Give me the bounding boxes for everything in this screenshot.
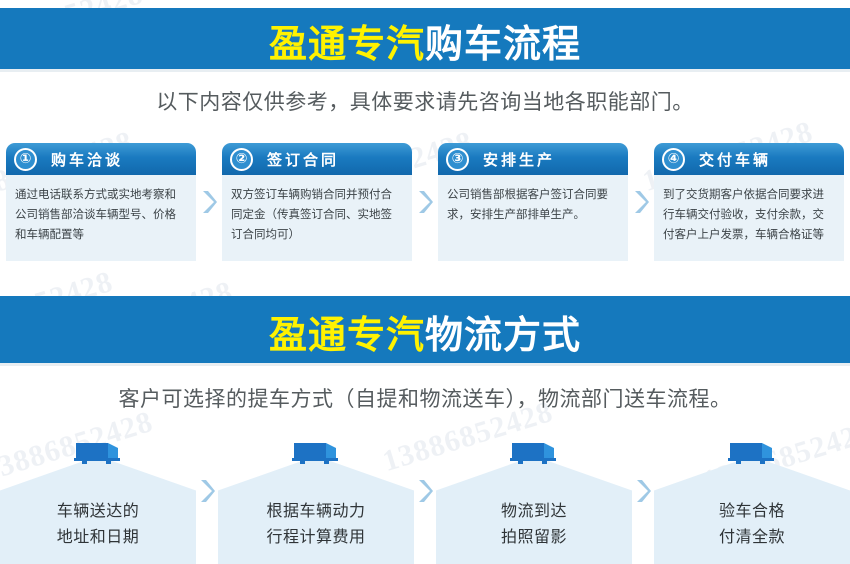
- chevron-right-icon: [417, 478, 434, 504]
- step-card-2[interactable]: ② 签订合同 双方签订车辆购销合同并预付合同定金（传真签订合同、实地签订合同均可…: [222, 143, 412, 261]
- step-arrow-2: [412, 143, 438, 261]
- step-card-3[interactable]: ③ 安排生产 公司销售部根据客户签订合同要求，安排生产部排单生产。: [438, 143, 628, 261]
- step-title-4: 交付车辆: [699, 149, 771, 170]
- chevron-right-icon: [417, 189, 434, 215]
- purchase-steps-row: ① 购车洽谈 通过电话联系方式或实地考察和公司销售部洽谈车辆型号、价格和车辆配置…: [6, 143, 844, 261]
- banner-bottom-suffix: 物流方式: [425, 313, 581, 357]
- step-body-4: 到了交货期客户依据合同要求进行车辆交付验收，支付余款，交付客户上户发票，车辆合格…: [654, 175, 844, 261]
- brand-name-bottom: 盈通专汽: [269, 313, 425, 357]
- logistics-text-4: 验车合格 付清全款: [654, 498, 850, 550]
- truck-icon: [72, 440, 124, 468]
- step-header-1: ① 购车洽谈: [6, 143, 196, 175]
- subtitle-logistics: 客户可选择的提车方式（自提和物流送车），物流部门送车流程。: [0, 383, 850, 413]
- step-arrow-1: [196, 143, 222, 261]
- logistics-line1-3: 物流到达: [436, 498, 632, 524]
- banner-purchase-process: 盈通专汽购车流程: [0, 8, 850, 72]
- step-number-badge-2: ②: [230, 148, 253, 171]
- step-arrow-3: [628, 143, 654, 261]
- logistics-card-3[interactable]: 物流到达 拍照留影: [436, 440, 632, 564]
- logistics-line1-1: 车辆送达的: [0, 498, 196, 524]
- step-header-3: ③ 安排生产: [438, 143, 628, 175]
- truck-icon: [726, 440, 778, 468]
- chevron-right-icon: [635, 478, 652, 504]
- step-title-2: 签订合同: [267, 149, 339, 170]
- step-number-badge-4: ④: [662, 148, 685, 171]
- step-body-1: 通过电话联系方式或实地考察和公司销售部洽谈车辆型号、价格和车辆配置等: [6, 175, 196, 261]
- chevron-right-icon: [633, 189, 650, 215]
- truck-icon: [290, 440, 342, 468]
- step-number-badge-1: ①: [14, 148, 37, 171]
- step-body-3: 公司销售部根据客户签订合同要求，安排生产部排单生产。: [438, 175, 628, 261]
- logistics-line1-4: 验车合格: [654, 498, 850, 524]
- chevron-right-icon: [199, 478, 216, 504]
- logistics-arrow-1: [196, 440, 218, 564]
- step-body-2: 双方签订车辆购销合同并预付合同定金（传真签订合同、实地签订合同均可）: [222, 175, 412, 261]
- logistics-text-3: 物流到达 拍照留影: [436, 498, 632, 550]
- logistics-arrow-2: [414, 440, 436, 564]
- step-header-2: ② 签订合同: [222, 143, 412, 175]
- banner-top-suffix: 购车流程: [425, 22, 581, 66]
- banner-top-title: 盈通专汽购车流程: [269, 13, 581, 68]
- banner-logistics: 盈通专汽物流方式: [0, 296, 850, 366]
- logistics-line2-3: 拍照留影: [436, 524, 632, 550]
- step-title-1: 购车洽谈: [51, 149, 123, 170]
- step-title-3: 安排生产: [483, 149, 555, 170]
- subtitle-purchase: 以下内容仅供参考，具体要求请先咨询当地各职能部门。: [0, 86, 850, 116]
- logistics-arrow-3: [632, 440, 654, 564]
- banner-bottom-title: 盈通专汽物流方式: [269, 304, 581, 359]
- logistics-line2-2: 行程计算费用: [218, 524, 414, 550]
- logistics-text-2: 根据车辆动力 行程计算费用: [218, 498, 414, 550]
- logistics-card-2[interactable]: 根据车辆动力 行程计算费用: [218, 440, 414, 564]
- step-card-4[interactable]: ④ 交付车辆 到了交货期客户依据合同要求进行车辆交付验收，支付余款，交付客户上户…: [654, 143, 844, 261]
- step-header-4: ④ 交付车辆: [654, 143, 844, 175]
- chevron-right-icon: [201, 189, 218, 215]
- logistics-line1-2: 根据车辆动力: [218, 498, 414, 524]
- truck-icon: [508, 440, 560, 468]
- logistics-card-1[interactable]: 车辆送达的 地址和日期: [0, 440, 196, 564]
- logistics-text-1: 车辆送达的 地址和日期: [0, 498, 196, 550]
- step-card-1[interactable]: ① 购车洽谈 通过电话联系方式或实地考察和公司销售部洽谈车辆型号、价格和车辆配置…: [6, 143, 196, 261]
- logistics-line2-1: 地址和日期: [0, 524, 196, 550]
- logistics-line2-4: 付清全款: [654, 524, 850, 550]
- step-number-badge-3: ③: [446, 148, 469, 171]
- infographic-page: 13886852428 13886852428 13886852428 1388…: [0, 0, 850, 564]
- logistics-steps-row: 车辆送达的 地址和日期 根据车辆动力 行程计算费用: [0, 432, 850, 564]
- brand-name-top: 盈通专汽: [269, 22, 425, 66]
- logistics-card-4[interactable]: 验车合格 付清全款: [654, 440, 850, 564]
